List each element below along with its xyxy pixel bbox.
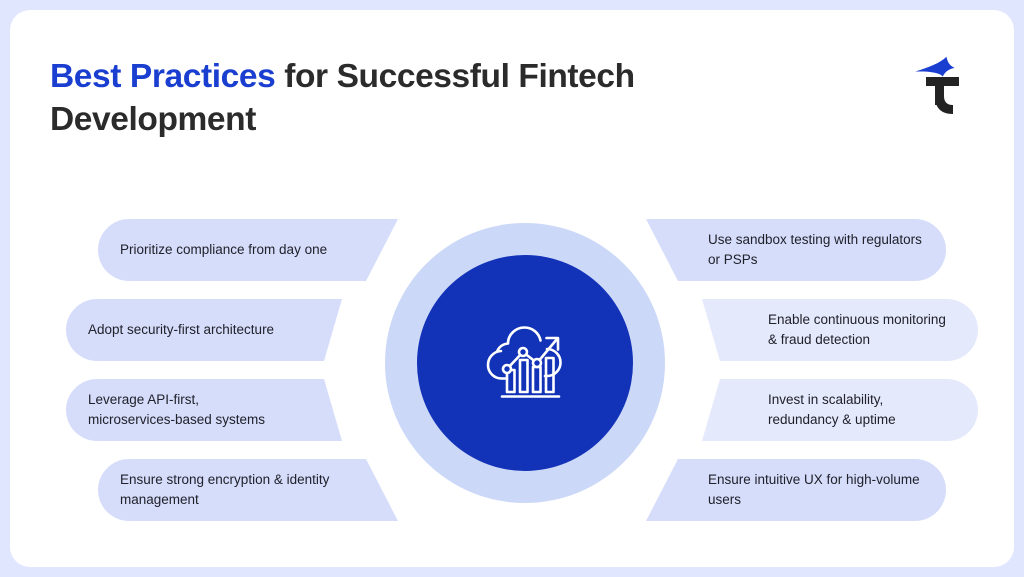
tau-sparkle-logo (904, 46, 976, 114)
practice-box-right-4[interactable]: Ensure intuitive UX for high-volume user… (624, 459, 946, 521)
practice-box-right-1[interactable]: Use sandbox testing with regulators or P… (624, 219, 946, 281)
practice-label: Leverage API-first, microservices-based … (88, 390, 276, 431)
title-accent: Best Practices (50, 58, 275, 95)
practice-box-right-2[interactable]: Enable continuous monitoring & fraud det… (684, 299, 978, 361)
practice-box-left-3[interactable]: Leverage API-first, microservices-based … (66, 379, 360, 441)
practice-box-left-4[interactable]: Ensure strong encryption & identity mana… (98, 459, 420, 521)
practice-label: Enable continuous monitoring & fraud det… (768, 310, 956, 351)
practice-label: Ensure intuitive UX for high-volume user… (708, 470, 924, 511)
cloud-analytics-icon (477, 322, 573, 404)
practice-label: Invest in scalability, redundancy & upti… (768, 390, 956, 431)
page-title: Best Practices for Successful Fintech De… (50, 56, 810, 141)
practice-label: Use sandbox testing with regulators or P… (708, 230, 924, 271)
infographic-card: Best Practices for Successful Fintech De… (10, 10, 1014, 567)
practice-label: Prioritize compliance from day one (120, 240, 327, 260)
practice-label: Adopt security-first architecture (88, 320, 274, 340)
practice-box-left-1[interactable]: Prioritize compliance from day one (98, 219, 420, 281)
practice-label: Ensure strong encryption & identity mana… (120, 470, 336, 511)
practice-box-right-3[interactable]: Invest in scalability, redundancy & upti… (684, 379, 978, 441)
center-disc (417, 255, 633, 471)
practice-box-left-2[interactable]: Adopt security-first architecture (66, 299, 360, 361)
